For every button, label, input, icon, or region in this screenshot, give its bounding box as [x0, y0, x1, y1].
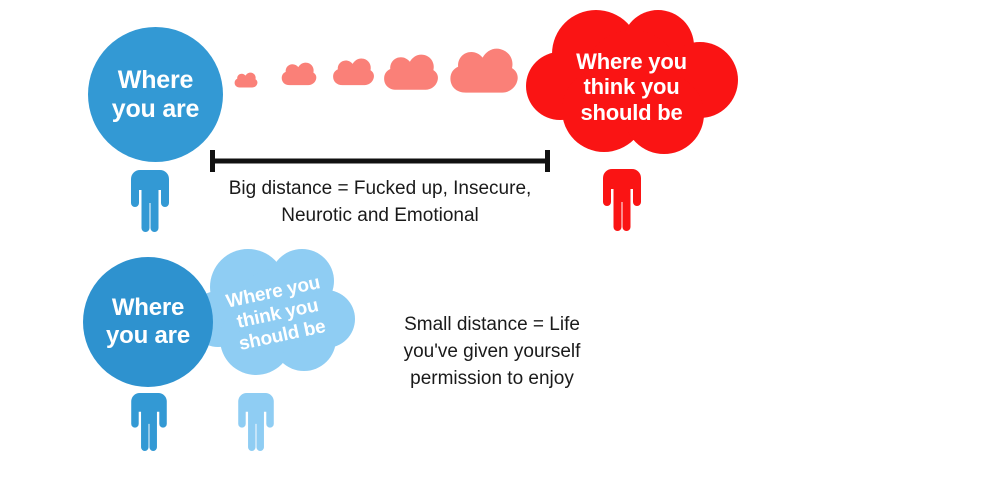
cloud-shape-icon [524, 8, 739, 166]
bubble-where-you-are-top: Where you are [88, 27, 223, 162]
cloud-puff-icon [332, 52, 375, 86]
bubble-should-be-top: Where you think you should be [524, 8, 739, 166]
person-icon-blue-top [131, 170, 169, 232]
person-icon-red-top [603, 168, 641, 232]
bubble-label-where-you-are-bottom: Where you are [83, 257, 213, 387]
distance-bar-cap-right [545, 150, 550, 172]
person-icon-lightblue-bottom [238, 393, 274, 451]
diagram-canvas: Where you are Where you think you should… [0, 0, 1000, 500]
cloud-shape-icon [190, 245, 355, 385]
caption-small-distance: Small distance = Life you've given yours… [378, 312, 606, 393]
cloud-puff-icon [234, 69, 258, 88]
cloud-puff-icon [449, 38, 519, 94]
distance-bar-line [210, 159, 550, 164]
distance-bar-cap-left [210, 150, 215, 172]
bubble-label-where-you-are-top: Where you are [88, 27, 223, 162]
cloud-puff-icon [383, 46, 439, 91]
cloud-puff-icon [281, 57, 317, 86]
bubble-should-be-bottom: Where you think you should be [190, 245, 355, 385]
distance-bar-icon-big [210, 150, 550, 172]
bubble-where-you-are-bottom: Where you are [83, 257, 213, 387]
caption-big-distance: Big distance = Fucked up, Insecure, Neur… [180, 176, 580, 230]
person-icon-blue-bottom [131, 393, 167, 451]
